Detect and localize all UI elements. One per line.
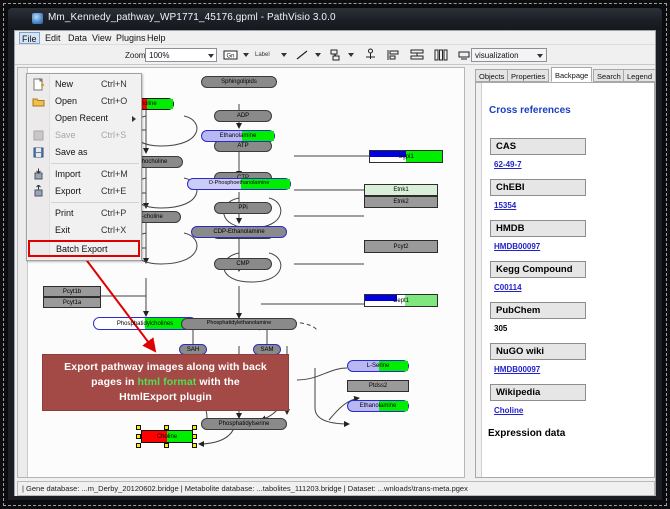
export-icon (32, 185, 45, 198)
node-label: O-Phosphoethanolamine (209, 181, 270, 187)
node-label: Ethanolamine (360, 403, 397, 409)
backpage-source-kegg: Kegg Compound (490, 261, 586, 278)
statusbar: | Gene database: ...m_Derby_20120602.bri… (17, 481, 655, 496)
menu-file[interactable]: File (19, 32, 40, 44)
menu-view[interactable]: View (89, 32, 114, 44)
datanode-tool-icon[interactable]: Gn (223, 48, 238, 62)
label-tool-icon[interactable]: Label (255, 48, 279, 62)
pathway-node-ethanolamine-top[interactable]: Ethanolamine (201, 130, 275, 142)
node-label: Ethanolamine (220, 133, 257, 139)
backpage-value-nugo[interactable]: HMDB00097 (494, 365, 540, 374)
chevron-down-icon (537, 54, 543, 58)
node-label: SAH (187, 347, 199, 353)
backpage-source-pubchem: PubChem (490, 302, 586, 319)
backpage-value-hmdb[interactable]: HMDB00097 (494, 242, 540, 251)
file-menu-item-new[interactable]: New Ctrl+N (27, 76, 141, 93)
menu-label: Exit (55, 225, 70, 235)
line-tool-icon[interactable] (295, 48, 310, 62)
align-columns-icon[interactable] (433, 48, 449, 62)
menu-label: Batch Export (56, 244, 108, 254)
menu-label: Import (55, 169, 81, 179)
label-dropdown-icon[interactable] (281, 53, 287, 57)
align-left-icon[interactable] (385, 48, 401, 62)
menu-accelerator: Ctrl+M (101, 169, 128, 179)
tab-search[interactable]: Search (593, 69, 625, 82)
file-menu-item-import[interactable]: Import Ctrl+M (27, 166, 141, 183)
menu-accelerator: Ctrl+N (101, 79, 127, 89)
window-client-area: File Edit Data View Plugins Help Zoom: 1… (14, 30, 656, 496)
pathway-node-adp[interactable]: ADP (214, 110, 272, 122)
line-dropdown-icon[interactable] (315, 53, 321, 57)
group-icon[interactable] (456, 48, 472, 62)
node-label: Sphingolipids (221, 79, 257, 85)
menu-accelerator: Ctrl+E (101, 186, 126, 196)
file-menu-item-open-recent[interactable]: Open Recent (27, 110, 141, 127)
callout-line-2: pages in html format with the (43, 375, 288, 390)
label-tool-text: Label (255, 52, 270, 58)
file-menu-item-exit[interactable]: Exit Ctrl+X (27, 222, 141, 239)
pathway-node-phosphatidylserine[interactable]: Phosphatidylserine (201, 418, 287, 430)
file-menu-dropdown[interactable]: New Ctrl+N Open Ctrl+O Open Recent Save (26, 73, 142, 261)
menu-data[interactable]: Data (65, 32, 90, 44)
pathway-gene-pcyt1a[interactable]: Pcyt1a (43, 297, 101, 308)
annotation-callout: Export pathway images along with back pa… (42, 354, 289, 411)
menu-accelerator: Ctrl+P (101, 208, 126, 218)
pathvisio-window: Mm_Kennedy_pathway_WP1771_45176.gpml - P… (8, 8, 662, 500)
pathway-gene-cept1[interactable]: Cept1 (364, 294, 438, 307)
pathway-node-l-serine[interactable]: L-Serine (347, 360, 409, 372)
tab-objects[interactable]: Objects (475, 69, 508, 82)
file-menu-item-batch-export[interactable]: Batch Export (28, 240, 140, 257)
menu-edit[interactable]: Edit (42, 32, 64, 44)
gene-label: Pcyt1b (63, 289, 81, 295)
pathway-node-cdp-ethanolamine[interactable]: CDP-Ethanolamine (191, 226, 287, 238)
backpage-source-chebi: ChEBI (490, 179, 586, 196)
backpage-source-hmdb: HMDB (490, 220, 586, 237)
pathway-node-o-phosphoethanolamine[interactable]: O-Phosphoethanolamine (187, 178, 291, 190)
pathway-gene-pcyt1b[interactable]: Pcyt1b (43, 286, 101, 297)
pathway-node-cmp[interactable]: CMP (214, 258, 272, 270)
backpage-source-cas: CAS (490, 138, 586, 155)
file-menu-item-save-as[interactable]: Save as (27, 144, 141, 161)
statusbar-text: | Gene database: ...m_Derby_20120602.bri… (22, 484, 468, 493)
menu-accelerator: Ctrl+O (101, 96, 127, 106)
backpage-value-chebi[interactable]: 15354 (494, 201, 516, 210)
menu-label: Save (55, 130, 76, 140)
pathway-gene-pcyt2[interactable]: Pcyt2 (364, 240, 438, 253)
menu-separator (51, 202, 139, 203)
tab-properties[interactable]: Properties (507, 69, 549, 82)
gene-label: Ptdss2 (369, 383, 387, 389)
side-panel-tabs: Objects Properties Backpage Search Legen… (475, 67, 655, 82)
pathway-node-phosphatidylethanolamine[interactable]: Phosphatidylethanolamine (181, 318, 297, 330)
menu-accelerator: Ctrl+S (101, 130, 126, 140)
menu-label: New (55, 79, 73, 89)
menu-separator (51, 163, 139, 164)
svg-text:Gn: Gn (226, 54, 234, 60)
toolbar: Zoom: 100% Gn Label (15, 45, 656, 65)
backpage-value-kegg[interactable]: C00114 (494, 283, 522, 292)
pathway-gene-etnk1[interactable]: Etnk1 (364, 184, 438, 196)
node-label: Phosphatidylserine (219, 421, 270, 427)
node-label: L-Serine (367, 363, 390, 369)
callout-line-3: HtmlExport plugin (43, 390, 288, 405)
node-label: PPi (238, 205, 247, 211)
submenu-arrow-icon (132, 116, 136, 122)
menu-label: Open Recent (55, 113, 108, 123)
callout-highlight: html format (138, 376, 197, 388)
backpage-value-wikipedia[interactable]: Choline (494, 406, 523, 415)
menubar: File Edit Data View Plugins Help (15, 31, 656, 45)
visualization-value: visualization (475, 51, 519, 60)
receptor-dropdown-icon[interactable] (348, 53, 354, 57)
gene-label: Pcyt1a (63, 300, 81, 306)
gene-label: Etnk2 (393, 199, 408, 205)
tab-legend[interactable]: Legend (623, 69, 656, 82)
backpage-value-pubchem: 305 (494, 324, 507, 333)
backpage-heading: Cross references (489, 105, 571, 116)
backpage-panel[interactable]: Cross references CAS 62-49-7 ChEBI 15354… (475, 82, 655, 478)
menu-label: Open (55, 96, 77, 106)
window-titlebar: Mm_Kennedy_pathway_WP1771_45176.gpml - P… (8, 8, 662, 30)
file-menu-item-open[interactable]: Open Ctrl+O (27, 93, 141, 110)
file-menu-item-print[interactable]: Print Ctrl+P (27, 205, 141, 222)
chevron-down-icon (208, 54, 214, 58)
node-label: Phosphatidylcholines (117, 321, 173, 327)
file-menu-item-save: Save Ctrl+S (27, 127, 141, 144)
node-label: CDP-Ethanolamine (213, 229, 264, 235)
menu-label: Save as (55, 147, 88, 157)
pathway-node-ethanolamine-bottom[interactable]: Ethanolamine (347, 400, 409, 412)
file-menu-item-export[interactable]: Export Ctrl+E (27, 183, 141, 200)
anchor-tool-icon[interactable] (363, 48, 378, 62)
menu-label: Export (55, 186, 81, 196)
zoom-combobox[interactable]: 100% (145, 48, 217, 62)
node-label: Phosphatidylethanolamine (207, 321, 272, 327)
save-disk-icon (32, 129, 45, 142)
menu-label: Print (55, 208, 74, 218)
menu-accelerator: Ctrl+X (101, 225, 126, 235)
pathway-node-ppi[interactable]: PPi (214, 202, 272, 214)
gene-label: Cept1 (393, 298, 409, 304)
tab-backpage[interactable]: Backpage (551, 67, 592, 82)
gene-label: Pcyt2 (393, 244, 408, 250)
datanode-dropdown-icon[interactable] (243, 53, 249, 57)
pathway-gene-ptdss2[interactable]: Ptdss2 (347, 380, 409, 392)
visualization-combobox[interactable]: visualization (471, 48, 547, 62)
side-panel: Objects Properties Backpage Search Legen… (467, 67, 655, 478)
window-title: Mm_Kennedy_pathway_WP1771_45176.gpml - P… (48, 12, 336, 23)
import-icon (32, 168, 45, 181)
node-label: SAM (260, 347, 273, 353)
node-label: ADP (237, 113, 249, 119)
backpage-footer-heading: Expression data (488, 428, 565, 439)
receptor-tool-icon[interactable] (328, 48, 343, 62)
backpage-source-wikipedia: Wikipedia (490, 384, 586, 401)
pathvisio-app-icon (32, 13, 43, 24)
node-label: ATP (237, 143, 248, 149)
node-label: CMP (236, 261, 249, 267)
gene-label: Etnk1 (393, 187, 408, 193)
new-document-icon (32, 78, 45, 91)
pathway-gene-etnk2[interactable]: Etnk2 (364, 196, 438, 208)
callout-line-1: Export pathway images along with back (43, 360, 288, 375)
gene-label: Sgpl1 (398, 154, 413, 160)
save-as-disk-icon (32, 146, 45, 159)
pathway-node-choline-bottom[interactable]: Choline (141, 430, 193, 443)
backpage-source-nugo: NuGO wiki (490, 343, 586, 360)
backpage-value-cas[interactable]: 62-49-7 (494, 160, 522, 169)
backpage-gutter (476, 83, 482, 477)
expression-highlight-down (405, 295, 437, 306)
menu-help[interactable]: Help (144, 32, 169, 44)
zoom-value: 100% (149, 51, 169, 60)
align-stack-icon[interactable] (409, 48, 425, 62)
node-label: Choline (157, 434, 177, 440)
pathway-node-sphingolipids[interactable]: Sphingolipids (201, 76, 277, 88)
pathway-gene-sgpl1[interactable]: Sgpl1 (369, 150, 443, 163)
open-folder-icon (32, 95, 45, 108)
callout-line-2-b: with the (196, 376, 239, 388)
callout-line-2-a: pages in (91, 376, 137, 388)
